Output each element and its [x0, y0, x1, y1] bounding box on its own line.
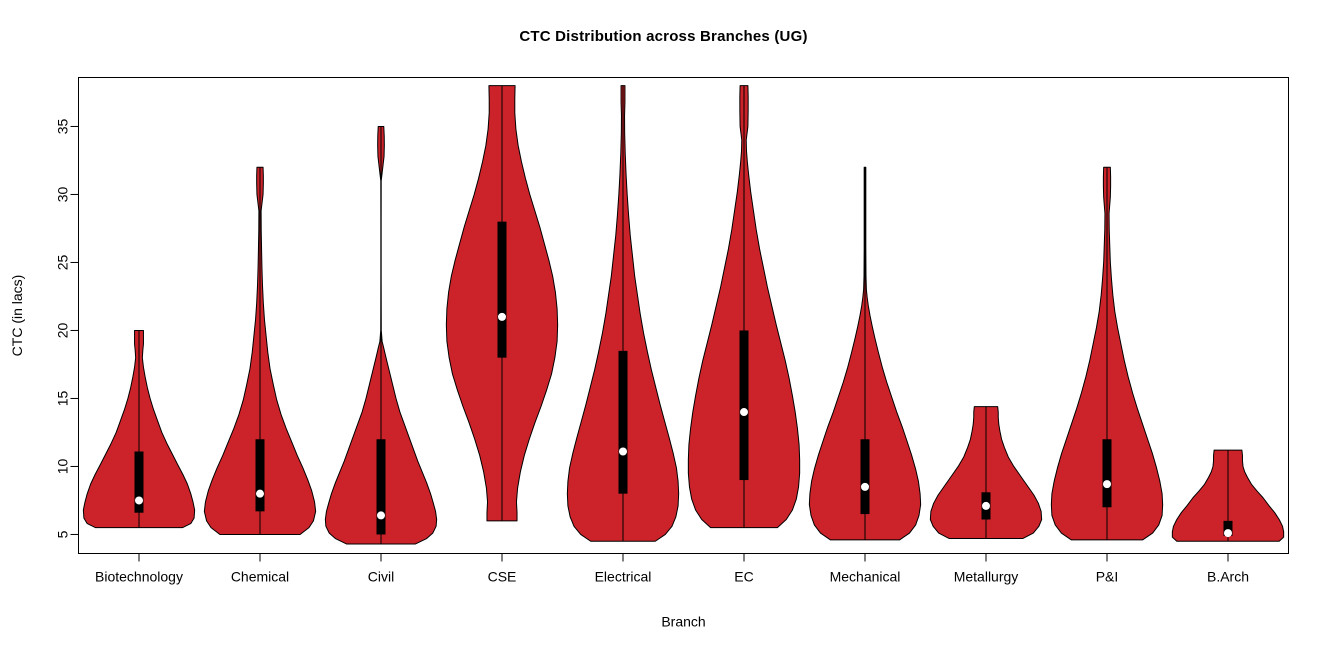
x-tick-label-ec: EC [734, 569, 753, 585]
violin-median-marker [740, 408, 748, 416]
violin-iqr-box [1103, 439, 1112, 507]
violin-cse[interactable] [446, 86, 557, 521]
violin-metallurgy[interactable] [930, 407, 1041, 539]
y-tick-label: 15 [55, 390, 71, 406]
y-tick-label: 35 [55, 118, 71, 134]
y-axis-title: CTC (in lacs) [9, 275, 25, 357]
violin-median-marker [861, 483, 869, 491]
violin-biotechnology[interactable] [83, 330, 194, 527]
x-axis-title: Branch [661, 614, 705, 630]
violin-iqr-box [740, 330, 749, 480]
violin-median-marker [256, 490, 264, 498]
violin-b-arch[interactable] [1172, 450, 1283, 541]
violins-group [83, 86, 1283, 544]
violin-iqr-box [861, 439, 870, 514]
violin-p-i[interactable] [1051, 167, 1162, 540]
violin-median-marker [498, 313, 506, 321]
violin-iqr-box [377, 439, 386, 534]
y-tick-label: 5 [55, 530, 71, 538]
y-axis: 5101520253035 [55, 118, 79, 538]
violin-iqr-box [498, 222, 507, 358]
x-tick-label-mechanical: Mechanical [830, 569, 901, 585]
x-tick-label-b-arch: B.Arch [1207, 569, 1249, 585]
x-tick-label-cse: CSE [488, 569, 517, 585]
y-tick-label: 25 [55, 254, 71, 270]
y-tick-label: 20 [55, 322, 71, 338]
violin-chemical[interactable] [204, 167, 315, 534]
y-tick-label: 30 [55, 186, 71, 202]
violin-median-marker [1103, 480, 1111, 488]
x-axis: BiotechnologyChemicalCivilCSEElectricalE… [95, 554, 1249, 585]
violin-median-marker [135, 496, 143, 504]
violin-median-marker [1224, 529, 1232, 537]
x-tick-label-electrical: Electrical [595, 569, 652, 585]
violin-ec[interactable] [688, 86, 799, 528]
chart-root: CTC Distribution across Branches (UG) 51… [0, 0, 1327, 653]
x-tick-label-chemical: Chemical [231, 569, 289, 585]
x-tick-label-civil: Civil [368, 569, 394, 585]
violin-electrical[interactable] [567, 86, 678, 542]
x-tick-label-metallurgy: Metallurgy [954, 569, 1019, 585]
violin-plot: 5101520253035 BiotechnologyChemicalCivil… [0, 0, 1327, 653]
violin-civil[interactable] [325, 126, 436, 544]
violin-median-marker [619, 448, 627, 456]
violin-mechanical[interactable] [809, 167, 920, 540]
x-tick-label-p-i: P&I [1096, 569, 1119, 585]
x-tick-label-biotechnology: Biotechnology [95, 569, 183, 585]
y-tick-label: 10 [55, 458, 71, 474]
violin-median-marker [982, 502, 990, 510]
violin-median-marker [377, 511, 385, 519]
violin-iqr-box [619, 351, 628, 494]
violin-iqr-box [256, 439, 265, 511]
